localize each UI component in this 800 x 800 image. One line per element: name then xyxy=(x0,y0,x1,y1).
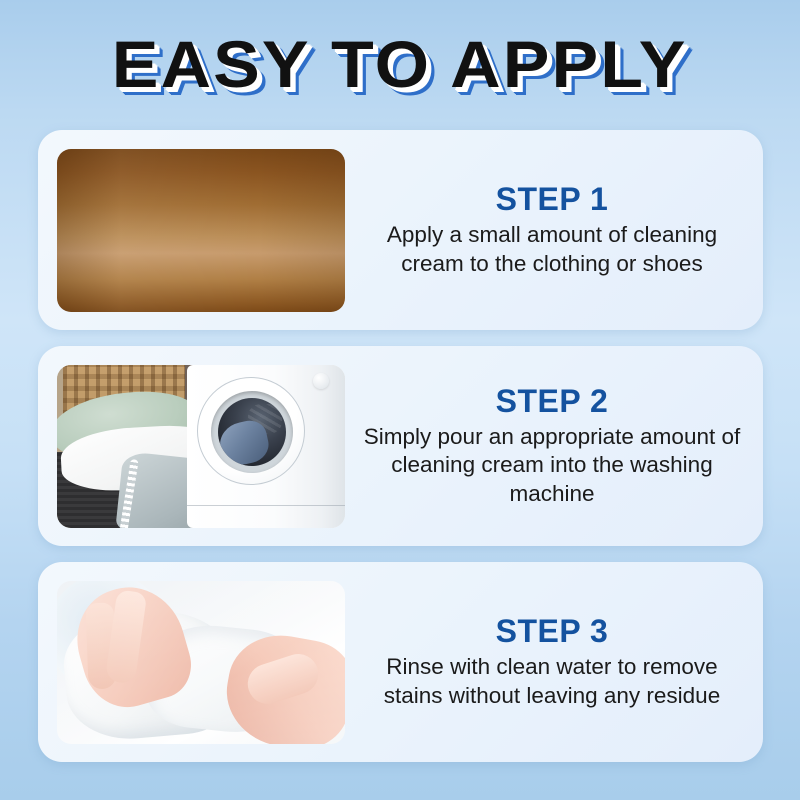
step-2-copy: STEP 2 Simply pour an appropriate amount… xyxy=(345,384,763,508)
step-card-2: STEP 2 Simply pour an appropriate amount… xyxy=(38,346,763,546)
porthole-glass xyxy=(218,398,286,466)
machine-knob xyxy=(313,373,329,389)
step-1-description: Apply a small amount of cleaning cream t… xyxy=(359,221,745,278)
cleaning-cream-closeup-image xyxy=(57,149,345,312)
step-3-title: STEP 3 xyxy=(359,614,745,649)
step-card-3: STEP 3 Rinse with clean water to remove … xyxy=(38,562,763,762)
soft-light-overlay xyxy=(57,581,345,744)
washing-machine-laundry-image xyxy=(57,365,345,528)
step-2-title: STEP 2 xyxy=(359,384,745,419)
step-card-1: STEP 1 Apply a small amount of cleaning … xyxy=(38,130,763,330)
porthole-rim xyxy=(211,391,293,473)
page-title-banner: EASY TO APPLY xyxy=(0,18,800,110)
porthole-door xyxy=(197,377,305,485)
step-1-copy: STEP 1 Apply a small amount of cleaning … xyxy=(345,182,763,278)
step-1-title: STEP 1 xyxy=(359,182,745,217)
step-3-description: Rinse with clean water to remove stains … xyxy=(359,653,745,710)
hands-rinsing-white-garment-image xyxy=(57,581,345,744)
step-3-copy: STEP 3 Rinse with clean water to remove … xyxy=(345,614,763,710)
step-2-description: Simply pour an appropriate amount of cle… xyxy=(359,423,745,508)
page-title: EASY TO APPLY xyxy=(112,31,688,97)
